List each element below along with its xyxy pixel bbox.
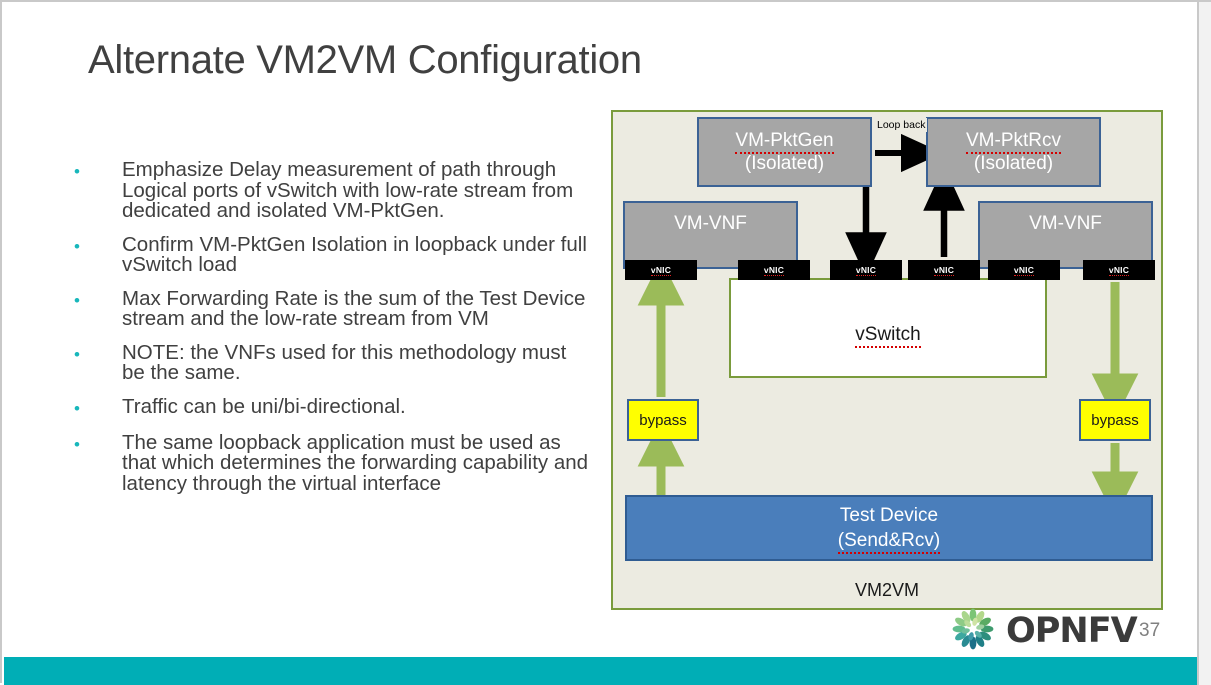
vm-vnf-right-label: VM-VNF (1029, 212, 1102, 235)
footer-logo: OPNFV 37 (944, 608, 1174, 652)
test-device-label-2: (Send&Rcv) (838, 528, 940, 553)
vnic-port-6[interactable]: vNIC (1083, 260, 1155, 280)
vm-pktgen-label-1: VM-PktGen (735, 129, 833, 152)
vm2vm-diagram: vSwitch VM-PktGen (Isolated) VM-PktRcv (… (611, 110, 1163, 610)
bullet-marker-icon: • (64, 235, 122, 258)
vm2vm-container-label: VM2VM (613, 580, 1161, 601)
vm-pktrcv-label-1: VM-PktRcv (966, 129, 1061, 152)
bullet-marker-icon: • (64, 433, 122, 456)
list-item-text: Traffic can be uni/bi-directional. (122, 397, 594, 418)
bypass-right-box[interactable]: bypass (1079, 399, 1151, 441)
test-device-label-1: Test Device (840, 503, 938, 528)
vm-vnf-left-box[interactable]: VM-VNF (623, 201, 798, 269)
loopback-label: Loop back (875, 118, 927, 132)
flower-burst-icon (944, 608, 1002, 650)
footer-accent-bar (4, 657, 1199, 685)
list-item: • The same loopback application must be … (64, 433, 594, 495)
test-device-box[interactable]: Test Device (Send&Rcv) (625, 495, 1153, 561)
vm-vnf-right-box[interactable]: VM-VNF (978, 201, 1153, 269)
bullet-marker-icon: • (64, 343, 122, 366)
vm-pktrcv-box[interactable]: VM-PktRcv (Isolated) (926, 117, 1101, 187)
vnic-port-2[interactable]: vNIC (738, 260, 810, 280)
vswitch-label: vSwitch (731, 324, 1045, 346)
list-item: • Emphasize Delay measurement of path th… (64, 160, 594, 222)
bullet-marker-icon: • (64, 397, 122, 420)
page-number: 37 (1139, 620, 1160, 642)
list-item: • NOTE: the VNFs used for this methodolo… (64, 343, 594, 384)
page-right-edge (1197, 2, 1211, 685)
vm-vnf-left-label: VM-VNF (674, 212, 747, 235)
vnic-port-3[interactable]: vNIC (830, 260, 902, 280)
list-item: • Confirm VM-PktGen Isolation in loopbac… (64, 235, 594, 276)
slide-canvas: Alternate VM2VM Configuration • Emphasiz… (0, 0, 1211, 683)
bullet-list: • Emphasize Delay measurement of path th… (64, 160, 594, 507)
vm-pktrcv-label-2: (Isolated) (974, 152, 1053, 175)
vm-pktgen-box[interactable]: VM-PktGen (Isolated) (697, 117, 872, 187)
list-item-text: Confirm VM-PktGen Isolation in loopback … (122, 235, 594, 276)
list-item: • Traffic can be uni/bi-directional. (64, 397, 594, 420)
list-item-text: The same loopback application must be us… (122, 433, 594, 495)
list-item: • Max Forwarding Rate is the sum of the … (64, 289, 594, 330)
vm-pktgen-label-2: (Isolated) (745, 152, 824, 175)
list-item-text: Max Forwarding Rate is the sum of the Te… (122, 289, 594, 330)
bypass-left-box[interactable]: bypass (627, 399, 699, 441)
vnic-port-5[interactable]: vNIC (988, 260, 1060, 280)
bullet-marker-icon: • (64, 289, 122, 312)
bullet-marker-icon: • (64, 160, 122, 183)
vnic-port-4[interactable]: vNIC (908, 260, 980, 280)
vnic-port-1[interactable]: vNIC (625, 260, 697, 280)
page-title: Alternate VM2VM Configuration (88, 38, 642, 83)
bypass-right-label: bypass (1091, 412, 1139, 429)
list-item-text: Emphasize Delay measurement of path thro… (122, 160, 594, 222)
list-item-text: NOTE: the VNFs used for this methodology… (122, 343, 594, 384)
vswitch-box: vSwitch (729, 278, 1047, 378)
opnfv-wordmark: OPNFV (1006, 611, 1137, 651)
bypass-left-label: bypass (639, 412, 687, 429)
